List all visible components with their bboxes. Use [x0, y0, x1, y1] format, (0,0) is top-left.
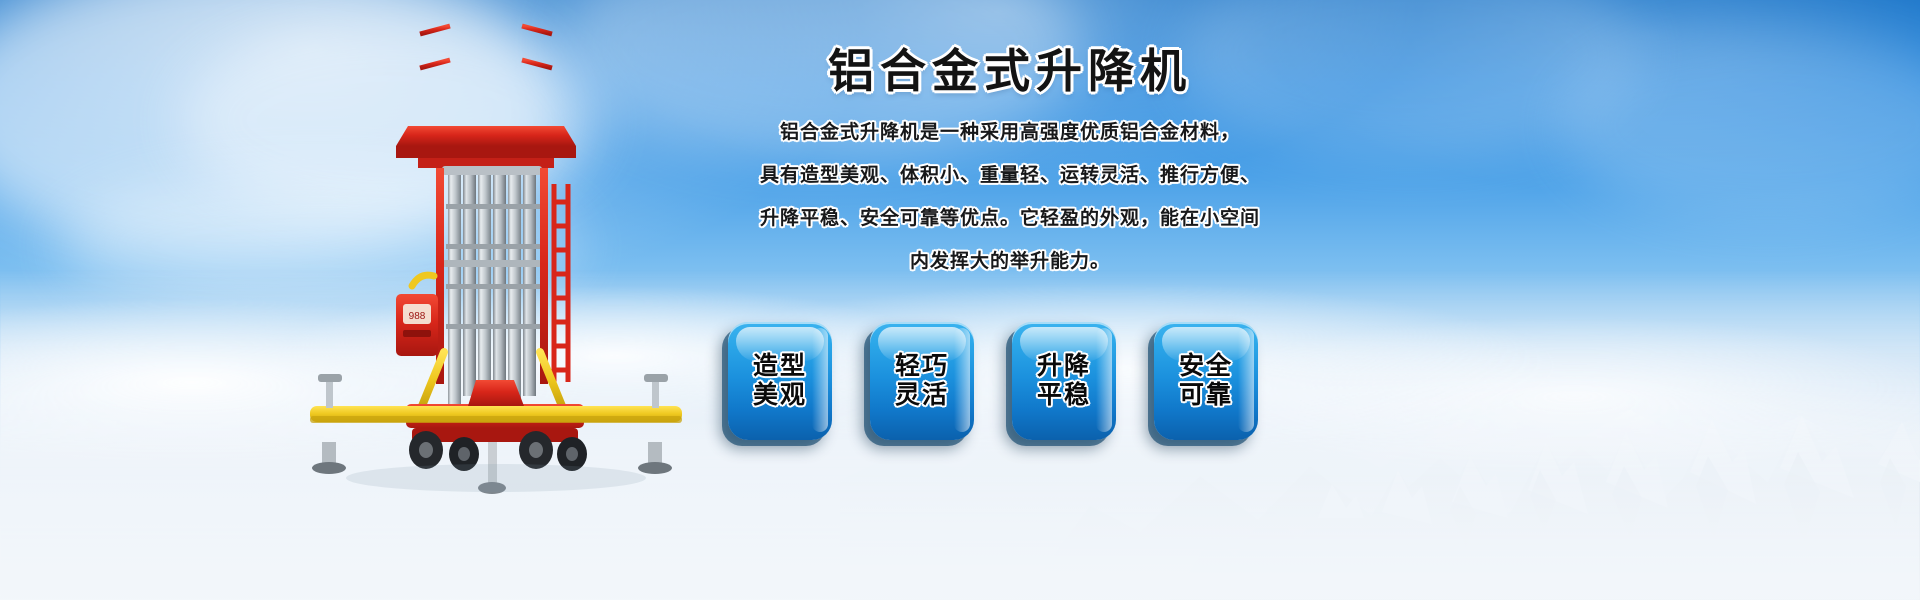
feature-badge-line2: 平稳 — [1037, 381, 1091, 411]
feature-badge-smooth-lifting[interactable]: 升降 平稳 — [1012, 322, 1116, 440]
description-line: 升降平稳、安全可靠等优点。它轻盈的外观，能在小空间 — [700, 209, 1320, 228]
description-paragraph: 铝合金式升降机是一种采用高强度优质铝合金材料， 具有造型美观、体积小、重量轻、运… — [700, 123, 1320, 271]
feature-badge-line2: 可靠 — [1179, 381, 1233, 411]
feature-badge-list: 造型 美观 轻巧 灵活 升降 平稳 安全 可靠 — [728, 322, 1258, 440]
feature-badge-line1: 造型 — [753, 352, 807, 382]
product-banner: 988 — [0, 0, 1920, 600]
feature-badge-line1: 轻巧 — [895, 352, 949, 382]
svg-text:988: 988 — [409, 311, 426, 322]
page-title: 铝合金式升降机 — [700, 46, 1320, 97]
description-line: 具有造型美观、体积小、重量轻、运转灵活、推行方便、 — [700, 166, 1320, 185]
feature-badge-line1: 安全 — [1179, 352, 1233, 382]
feature-badge-line2: 美观 — [753, 381, 807, 411]
description-line: 内发挥大的举升能力。 — [700, 252, 1320, 271]
feature-badge-line2: 灵活 — [895, 381, 949, 411]
aluminum-alloy-lift-illustration: 988 — [300, 8, 690, 498]
feature-badge-lightweight[interactable]: 轻巧 灵活 — [870, 322, 974, 440]
feature-badge-line1: 升降 — [1037, 352, 1091, 382]
feature-badge-appearance[interactable]: 造型 美观 — [728, 322, 832, 440]
feature-badge-safety[interactable]: 安全 可靠 — [1154, 322, 1258, 440]
banner-copy: 铝合金式升降机 铝合金式升降机是一种采用高强度优质铝合金材料， 具有造型美观、体… — [700, 46, 1320, 295]
description-line: 铝合金式升降机是一种采用高强度优质铝合金材料， — [700, 123, 1320, 142]
